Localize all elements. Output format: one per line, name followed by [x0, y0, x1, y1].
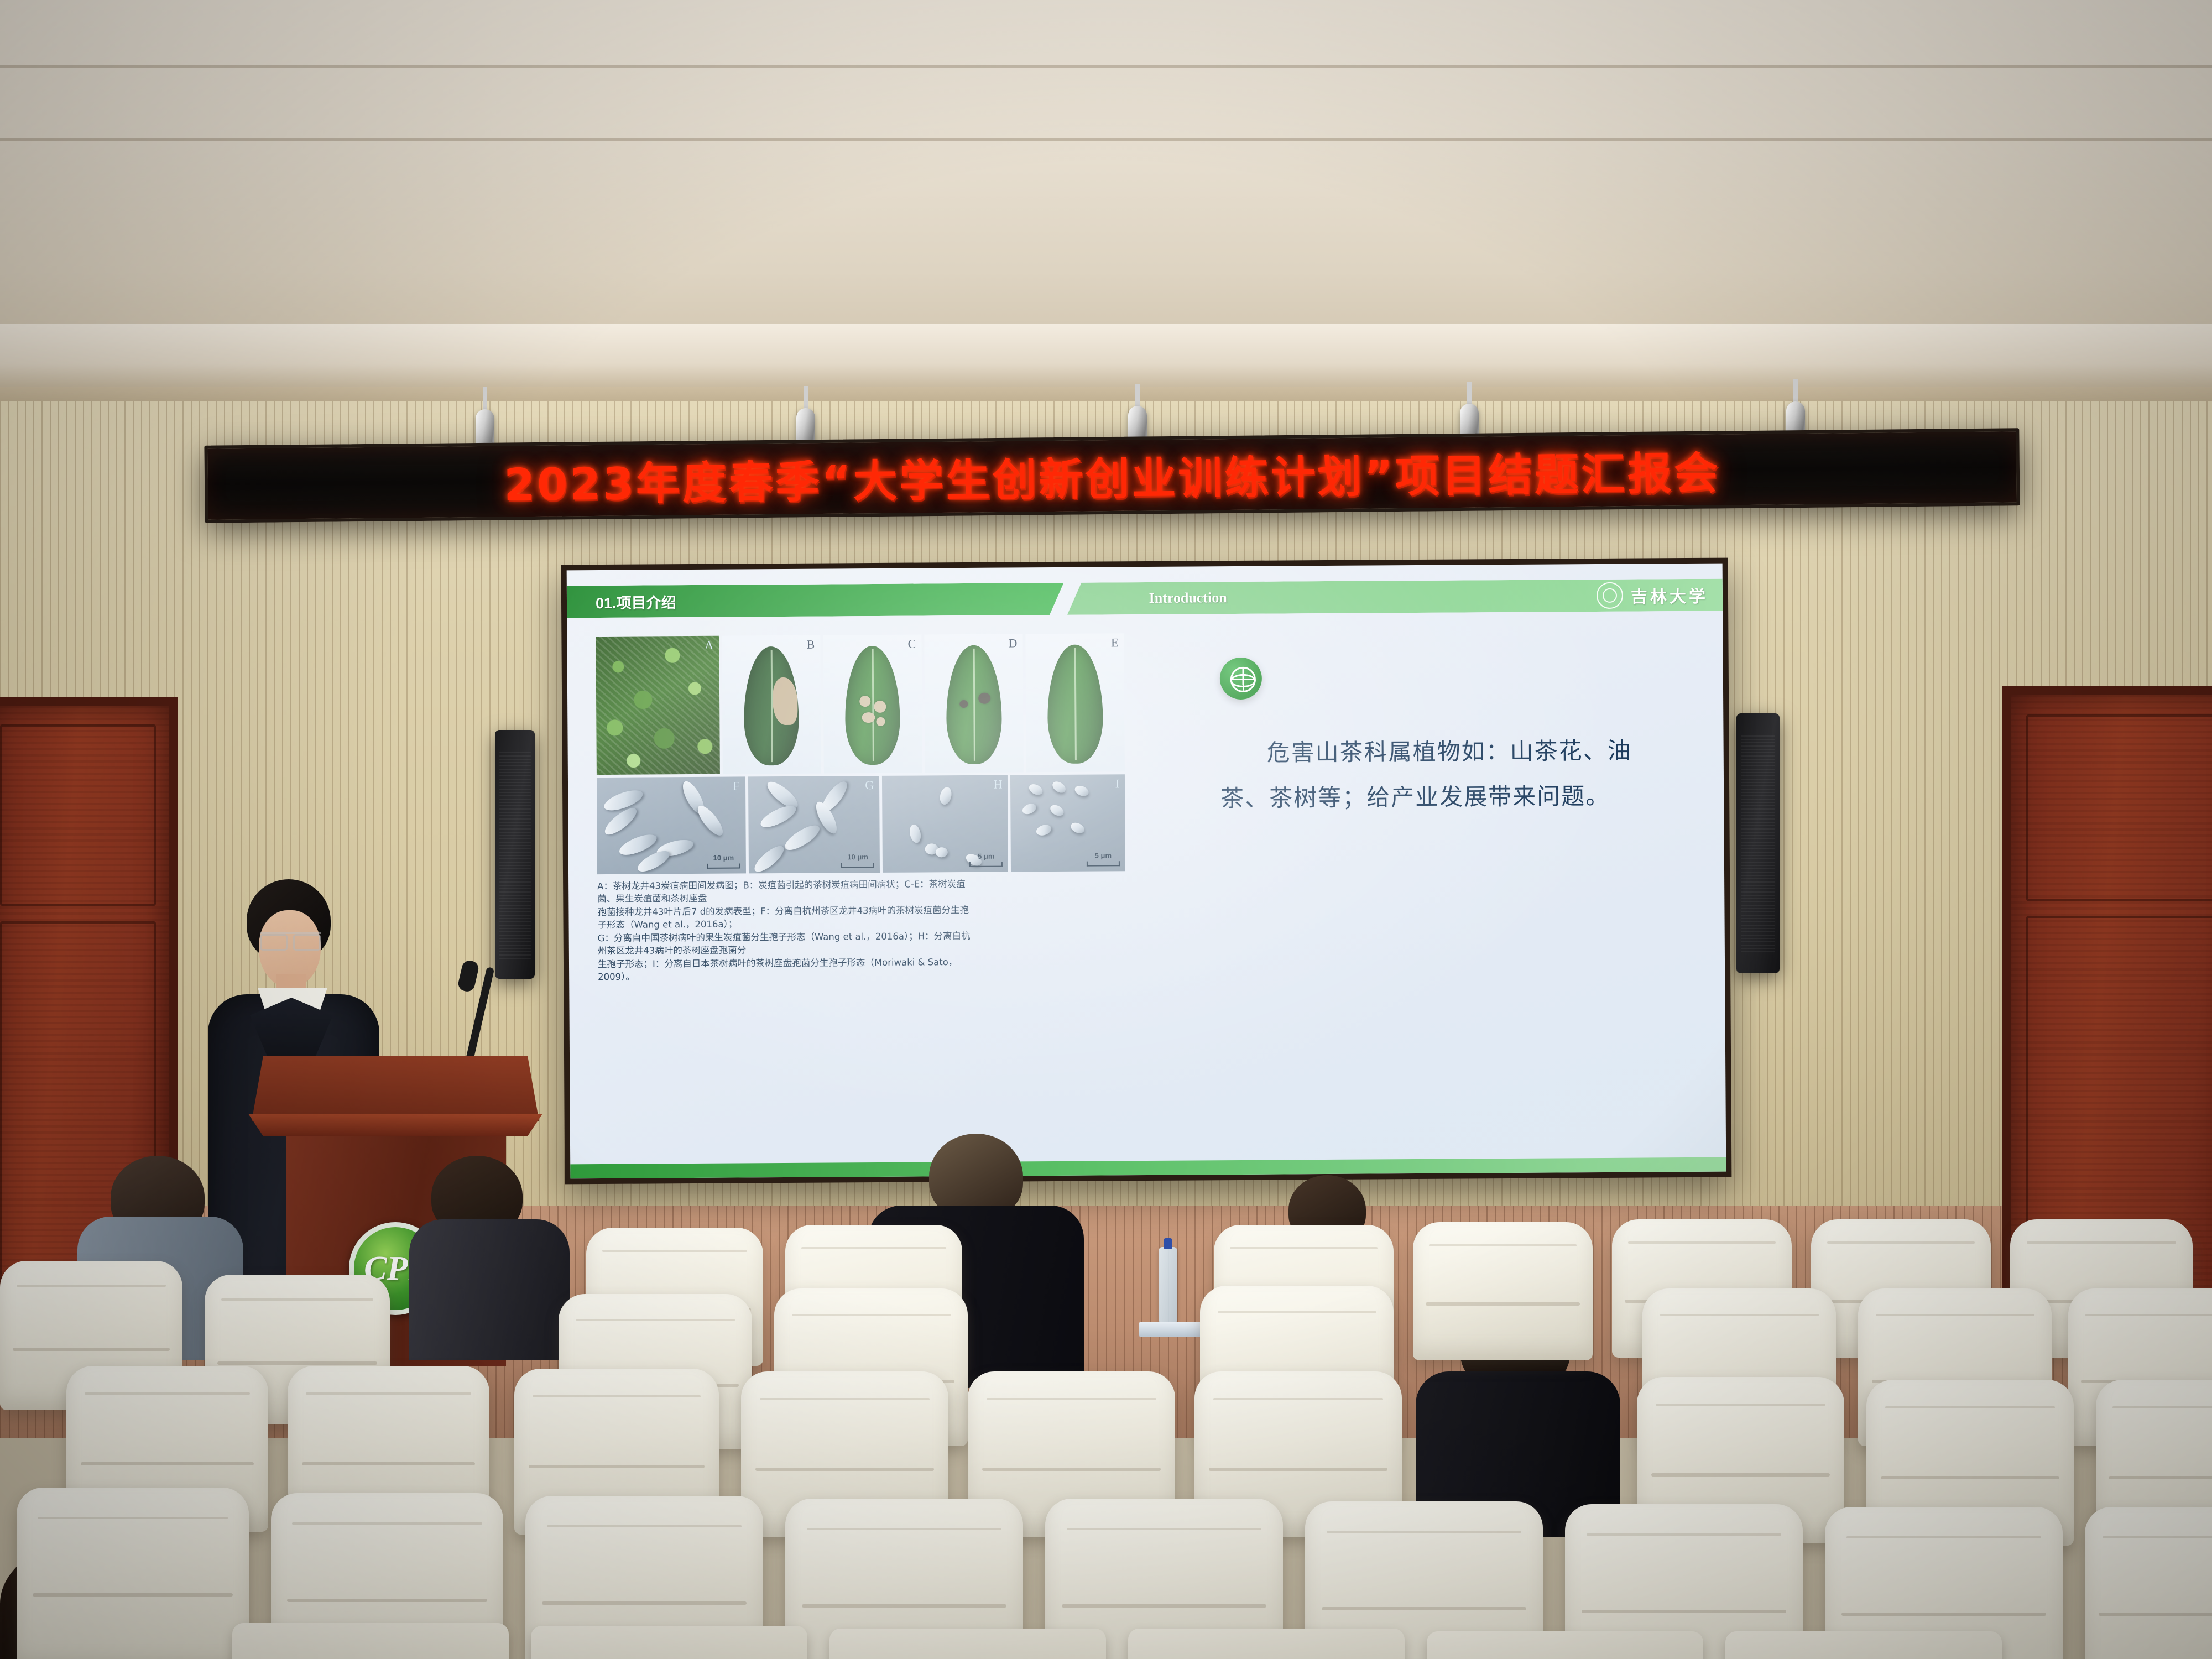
- panel-label: C: [908, 637, 916, 651]
- seat-base[interactable]: [1128, 1629, 1405, 1659]
- seat-base[interactable]: [232, 1623, 509, 1659]
- university-seal-icon: [1597, 582, 1623, 609]
- slide-header: 01.项目介绍 Introduction 吉林大学: [567, 579, 1723, 618]
- seat-base[interactable]: [531, 1626, 807, 1659]
- led-banner-text: 2023年度春季“大学生创新创业训练计划”项目结题汇报会: [504, 437, 1721, 513]
- figure-panel-C: C: [823, 634, 922, 773]
- seat-base[interactable]: [830, 1629, 1106, 1659]
- figure-panel-E: E: [1025, 633, 1125, 772]
- slide-section-tab-en: Introduction 吉林大学: [1067, 579, 1723, 615]
- slide-body: 危害山茶科属植物如：山茶花、油茶、茶树等；给产业发展带来问题。: [1220, 655, 1641, 821]
- slide-section-title: 01.项目介绍: [596, 591, 676, 613]
- seat[interactable]: [1413, 1222, 1593, 1360]
- panel-label: H: [993, 778, 1002, 792]
- university-logo: 吉林大学: [1597, 579, 1708, 612]
- ceiling: [0, 0, 2212, 387]
- panel-label: D: [1008, 636, 1017, 650]
- scale-bar-H: 5 μm: [969, 852, 1003, 867]
- seat-base[interactable]: [1725, 1631, 2002, 1659]
- water-bottle: [1159, 1247, 1177, 1324]
- ceiling-beam: [0, 324, 2212, 394]
- slide-section-tab: 01.项目介绍: [567, 583, 1064, 618]
- panel-label: G: [865, 778, 874, 792]
- scale-bar-F: 10 μm: [707, 853, 740, 868]
- globe-icon: [1220, 658, 1262, 700]
- glasses-icon: [260, 932, 321, 947]
- figure-panel-B: B: [722, 635, 821, 774]
- microphone: [465, 965, 531, 1065]
- projection-screen: 01.项目介绍 Introduction 吉林大学 A: [561, 558, 1732, 1185]
- scale-bar-G: 10 μm: [841, 853, 874, 868]
- slide-body-text: 危害山茶科属植物如：山茶花、油茶、茶树等；给产业发展带来问题。: [1220, 728, 1641, 821]
- figure-panel-H: H 5 μm: [882, 775, 1008, 873]
- right-speaker: [1736, 713, 1780, 973]
- figure-panel-A: A: [596, 636, 719, 775]
- seated-attendee-torso: [409, 1219, 570, 1360]
- figure-panel-G: G 10 μm: [748, 776, 880, 873]
- conference-hall-photo: 2023年度春季“大学生创新创业训练计划”项目结题汇报会 01.项目介绍 Int…: [0, 0, 2212, 1659]
- figure-panel-I: I 5 μm: [1010, 774, 1125, 872]
- figure-panel-F: F 10 μm: [597, 776, 746, 874]
- panel-label: I: [1115, 776, 1119, 791]
- seat-base[interactable]: [1427, 1631, 1703, 1659]
- left-speaker: [495, 730, 535, 979]
- panel-label: A: [705, 638, 713, 653]
- figure-grid: A B C: [596, 633, 1125, 874]
- seat[interactable]: [17, 1488, 249, 1659]
- presentation-slide: 01.项目介绍 Introduction 吉林大学 A: [567, 564, 1726, 1179]
- seat[interactable]: [2085, 1507, 2212, 1659]
- scale-bar-I: 5 μm: [1087, 851, 1120, 866]
- panel-label: B: [806, 638, 815, 652]
- panel-label: E: [1111, 635, 1119, 650]
- figure-caption: A：茶树龙井43炭疽病田间发病图；B：炭疽菌引起的茶树炭疽病田间病状；C-E：茶…: [597, 877, 1129, 983]
- panel-label: F: [733, 779, 739, 793]
- slide-section-title-en: Introduction: [1149, 589, 1227, 607]
- slide-footer-bar: [570, 1157, 1726, 1179]
- university-name: 吉林大学: [1631, 583, 1708, 608]
- figure-panel-D: D: [924, 634, 1024, 773]
